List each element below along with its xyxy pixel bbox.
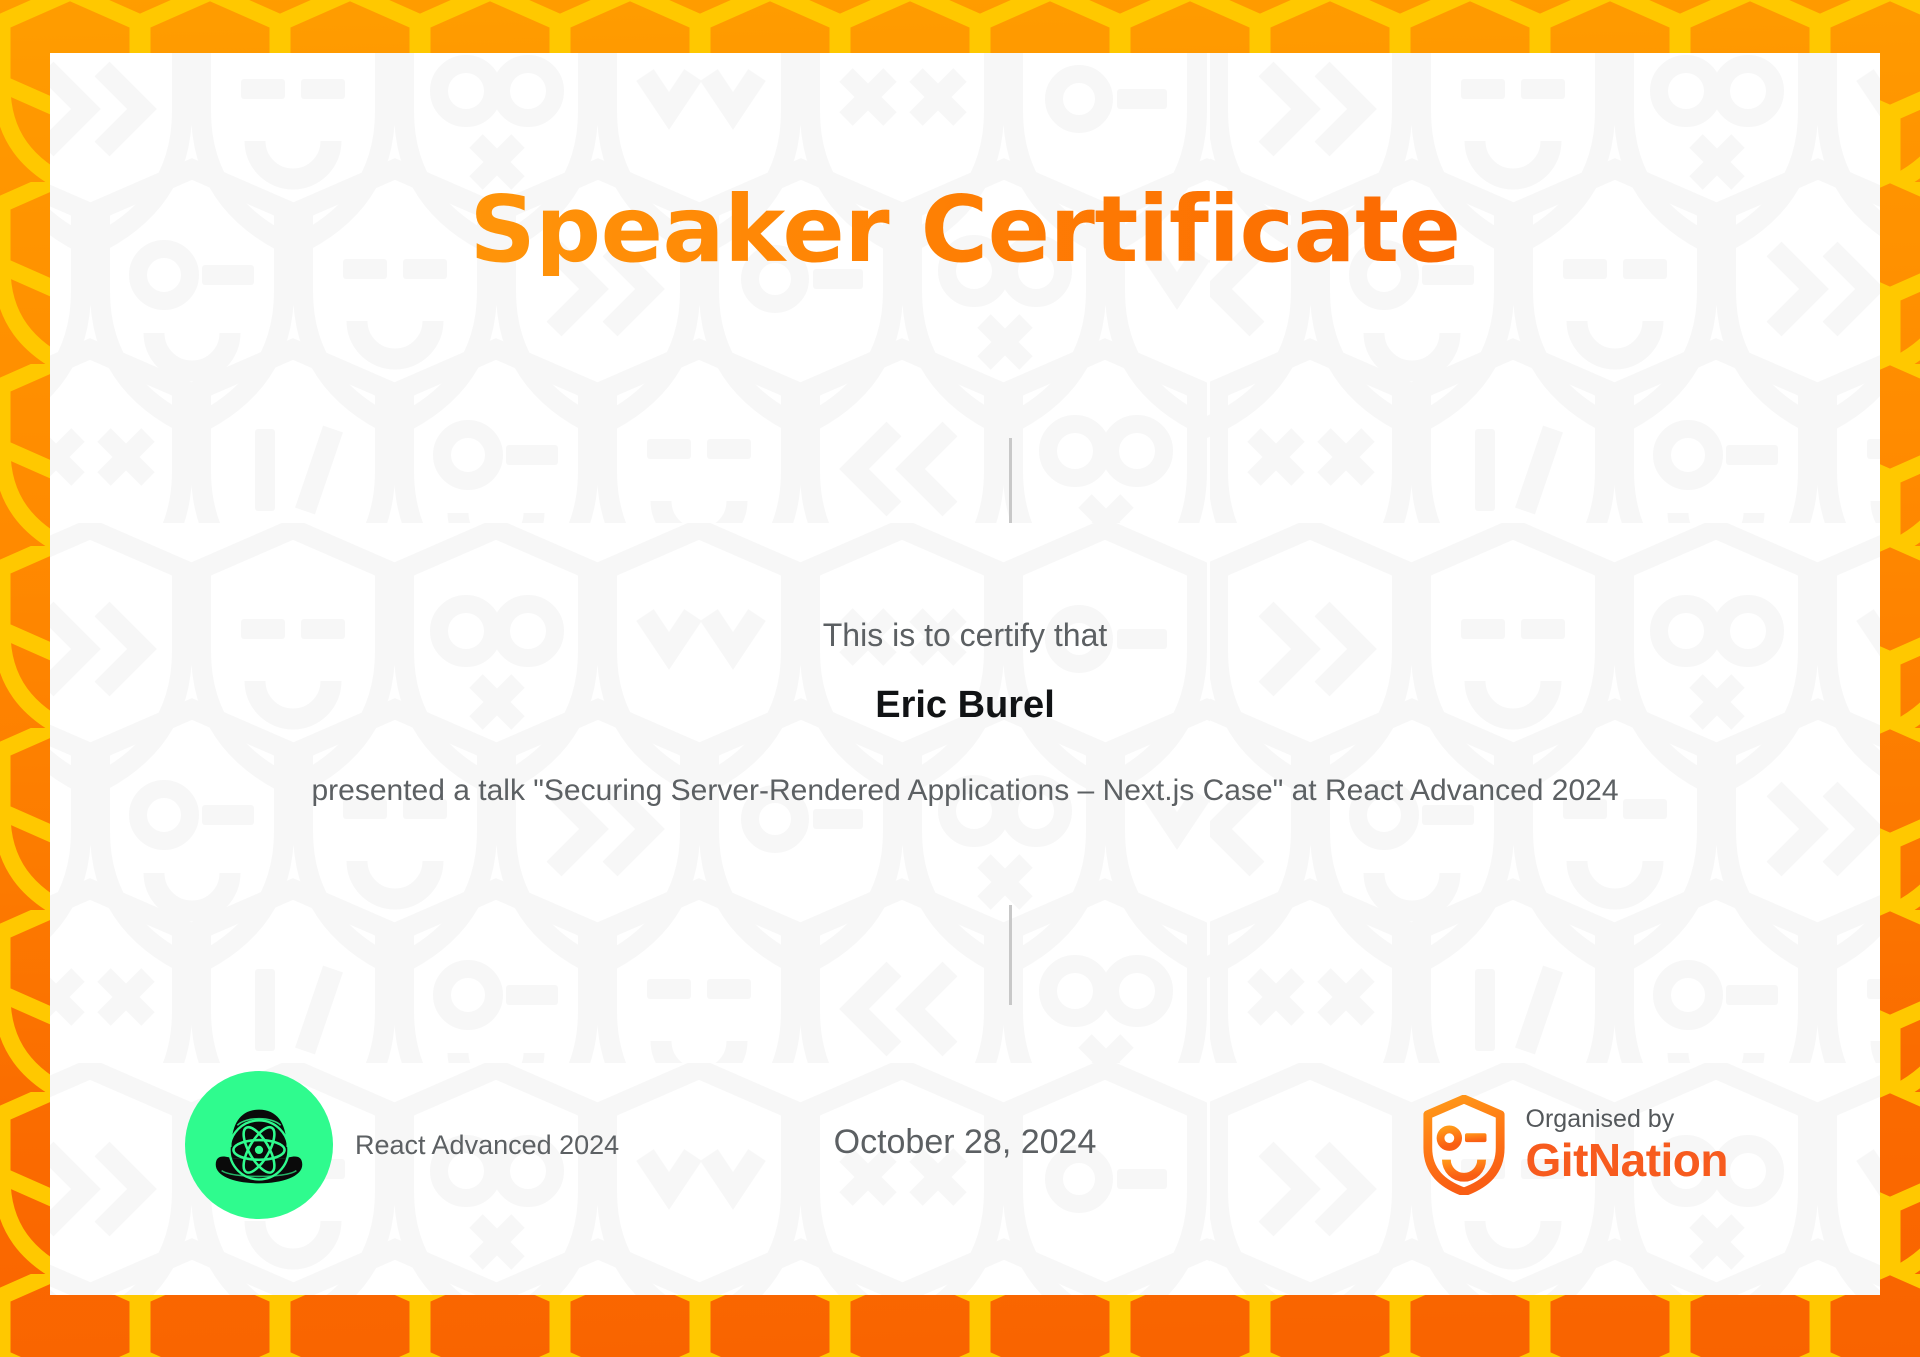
organised-by-label: Organised by <box>1526 1106 1728 1132</box>
talk-description: presented a talk "Securing Server-Render… <box>260 766 1670 816</box>
certificate-footer: React Advanced 2024 October 28, 2024 <box>50 1063 1880 1243</box>
certificate-root: Speaker Certificate This is to certify t… <box>0 0 1920 1357</box>
organiser-block: Organised by GitNation <box>1420 1095 1728 1195</box>
divider-top <box>1009 438 1012 523</box>
certificate-card: Speaker Certificate This is to certify t… <box>50 53 1880 1295</box>
gitnation-shield-icon <box>1420 1095 1508 1195</box>
certify-line: This is to certify that <box>50 617 1880 654</box>
recipient-name: Eric Burel <box>50 684 1880 727</box>
organiser-text: Organised by GitNation <box>1526 1106 1728 1185</box>
page-title: Speaker Certificate <box>50 184 1880 276</box>
gitnation-wordmark: GitNation <box>1526 1136 1728 1184</box>
divider-bottom <box>1009 905 1012 1005</box>
